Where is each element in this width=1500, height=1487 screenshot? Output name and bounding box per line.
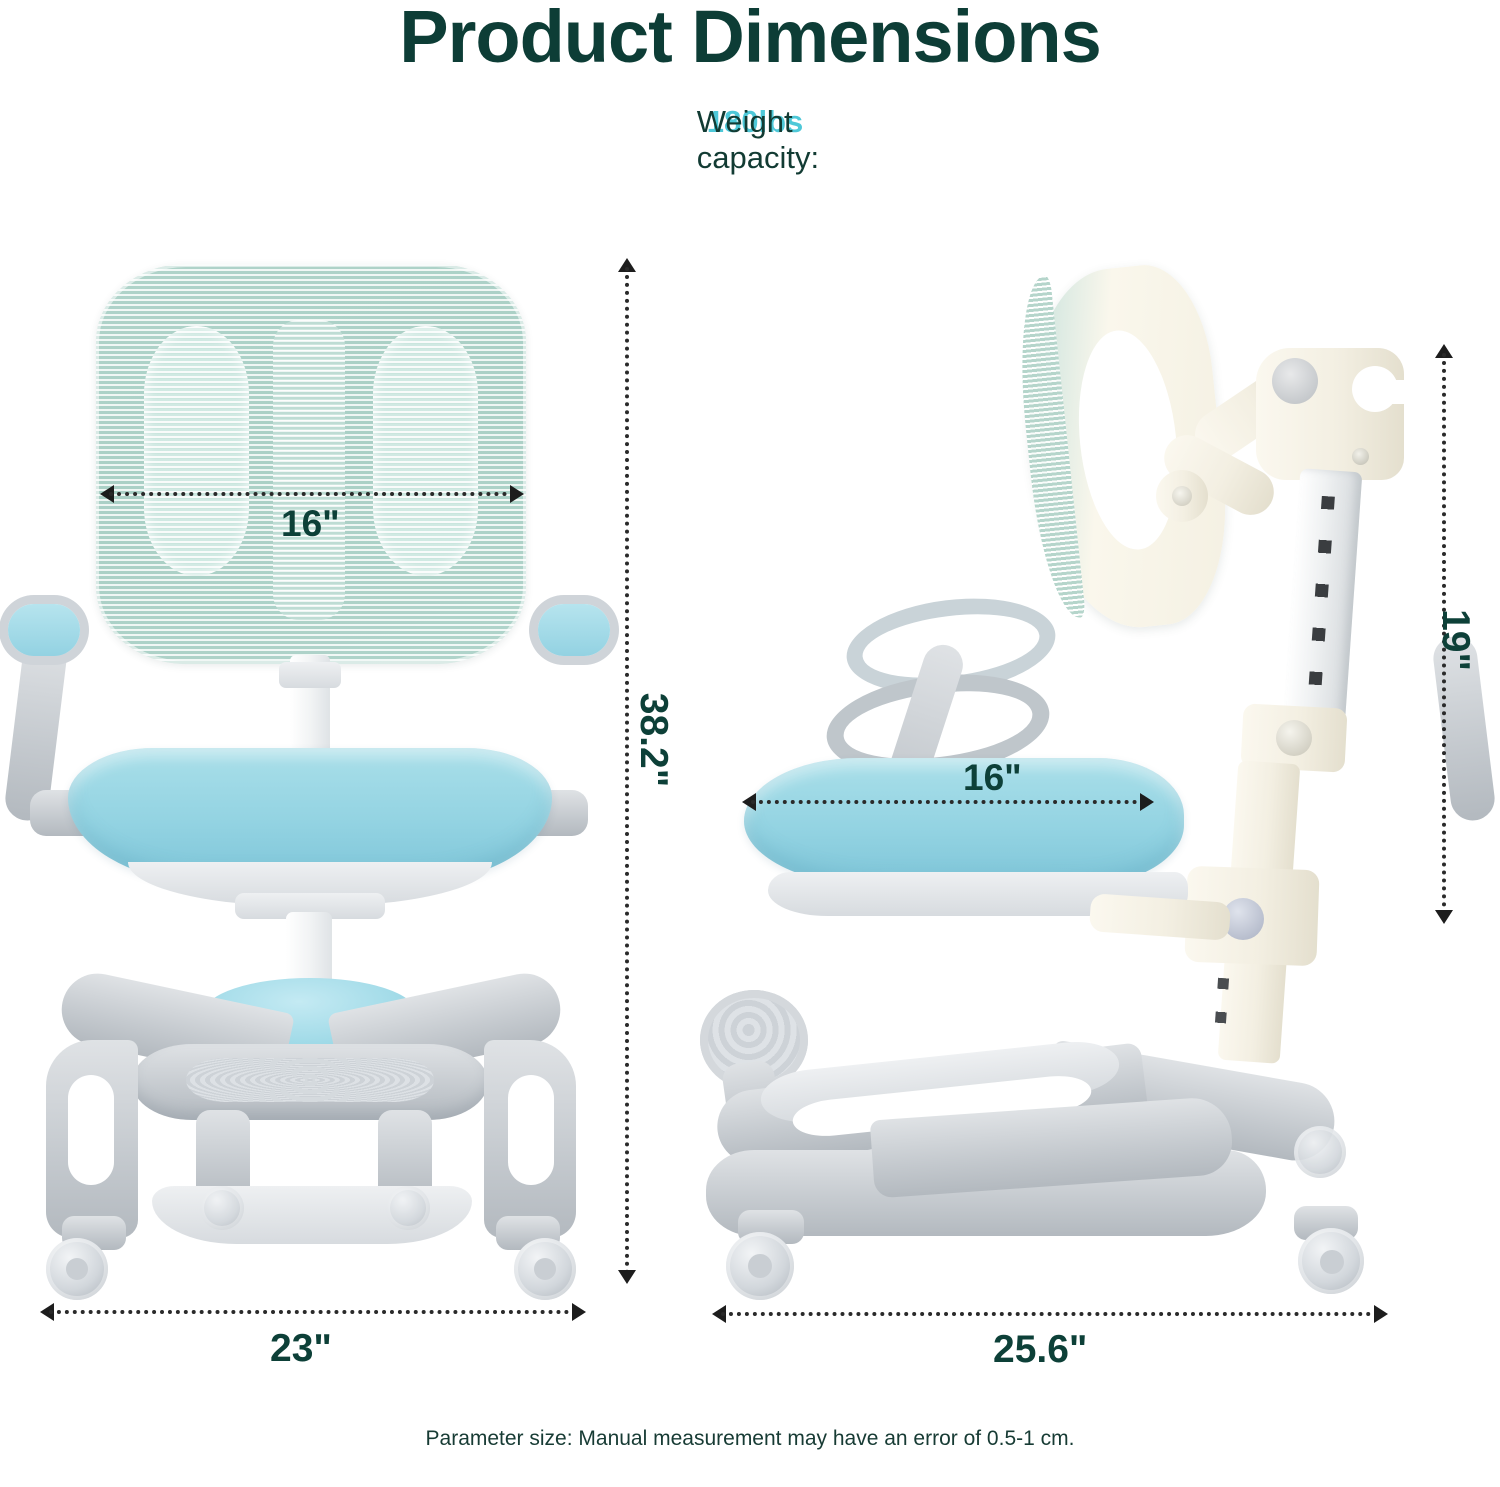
- footrest-texture: [186, 1058, 434, 1102]
- caster-hub-right-front: [534, 1258, 556, 1280]
- backrest-center-strip: [273, 320, 345, 620]
- dimension-label-base-width: 23": [270, 1327, 332, 1371]
- bracket-hook-gap: [1372, 380, 1412, 404]
- measurement-note: Parameter size: Manual measurement may h…: [0, 1427, 1500, 1451]
- dimension-base-depth-side: [712, 1302, 1388, 1326]
- dimension-base-width: [40, 1300, 586, 1324]
- backrest-post-collar: [279, 662, 341, 688]
- armrest-pad-right: [538, 604, 610, 656]
- dimension-seat-depth-side: [742, 790, 1154, 814]
- dimension-label-seat-depth-side: 16": [963, 757, 1022, 799]
- dimension-label-total-height: 38.2": [631, 693, 675, 787]
- dimension-label-backrest-height-side: 19": [1433, 609, 1477, 671]
- base-frame-cutout-left: [68, 1075, 114, 1185]
- lumbar-pad-right: [373, 326, 478, 576]
- page-title: Product Dimensions: [0, 0, 1500, 77]
- lumbar-pad-left: [144, 326, 249, 576]
- weight-capacity: Weight capacity:180lbs: [0, 104, 1500, 140]
- dimension-label-backrest-width-front: 16": [281, 503, 340, 545]
- bracket-screw-lower: [1352, 448, 1369, 465]
- caster-wheel-center-front: [200, 1186, 244, 1230]
- backrest-mesh-front: [96, 264, 526, 664]
- clamp-knob-upper: [1276, 720, 1312, 756]
- caster-hub-left-front: [66, 1258, 88, 1280]
- caster-hub-front-side: [748, 1254, 772, 1278]
- caster-hub-rear-side: [1320, 1250, 1344, 1274]
- armrest-pad-left: [8, 604, 80, 656]
- base-frame-cutout-right: [508, 1075, 554, 1185]
- infographic-canvas: Product Dimensions Weight capacity:180lb…: [0, 0, 1500, 1487]
- caster-wheel-mid-side: [1294, 1126, 1346, 1178]
- bracket-pivot-cap: [1272, 358, 1318, 404]
- caster-wheel-center2-front: [386, 1186, 430, 1230]
- dimension-label-base-depth-side: 25.6": [993, 1328, 1087, 1372]
- hinge-pivot-screw: [1172, 486, 1192, 506]
